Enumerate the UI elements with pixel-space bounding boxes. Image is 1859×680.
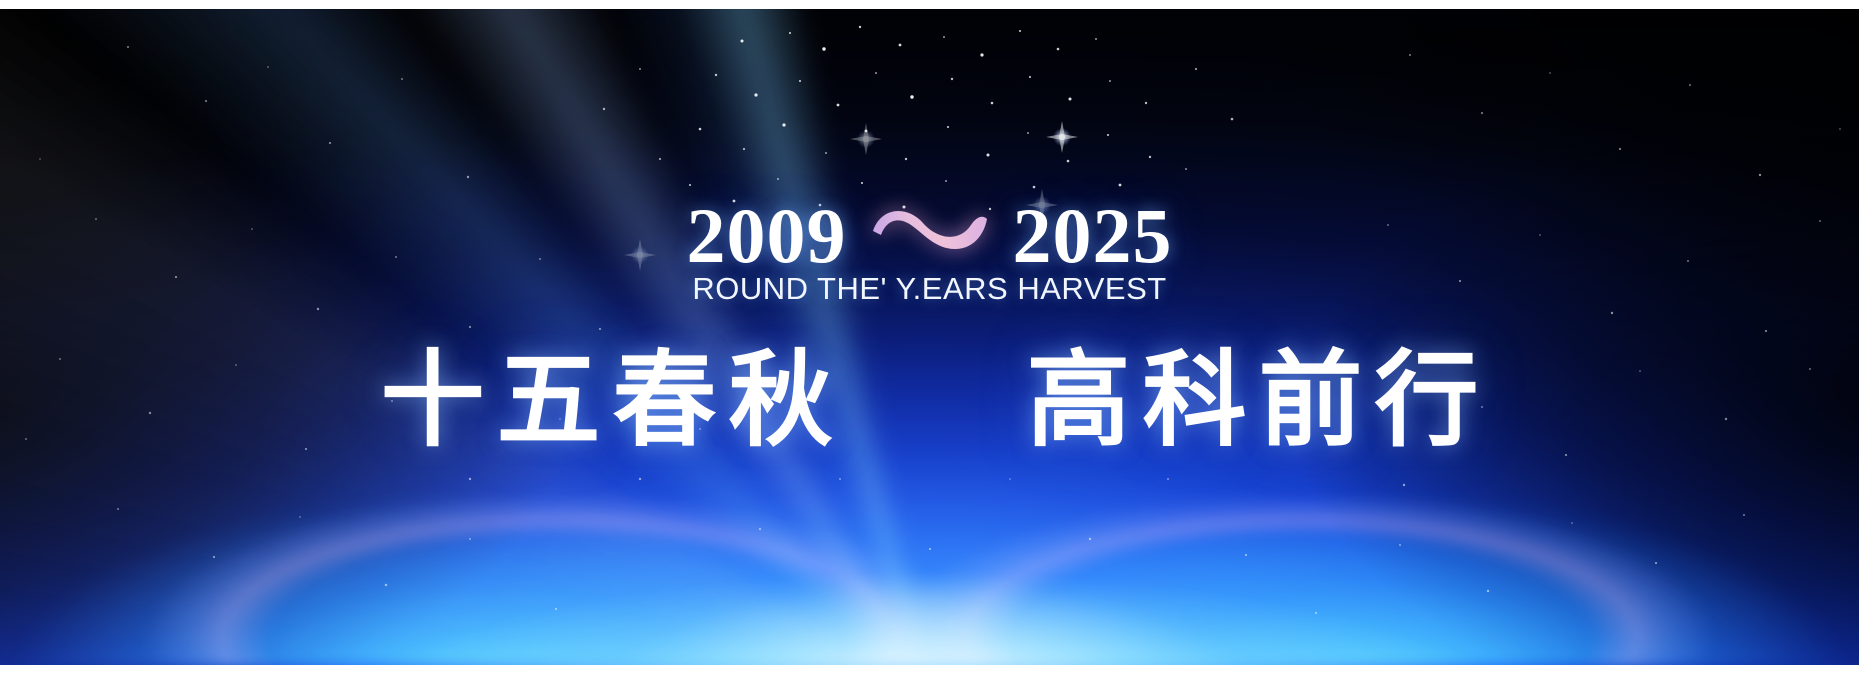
year-range: 2009 2025 (0, 197, 1859, 275)
banner-frame: 2009 2025 (0, 0, 1859, 680)
subtitle-text: ROUND THE' Y.EARS HARVEST (0, 271, 1859, 307)
headline-right: 高科前行 (1015, 341, 1491, 460)
banner-content: 2009 2025 (0, 9, 1859, 665)
year-end: 2025 (1013, 197, 1173, 275)
year-start: 2009 (687, 197, 847, 275)
headline-row: 十五春秋 高科前行 (0, 341, 1859, 460)
headline-left: 十五春秋 (368, 341, 844, 460)
wave-tilde-icon (867, 199, 993, 265)
banner-canvas: 2009 2025 (0, 9, 1859, 665)
